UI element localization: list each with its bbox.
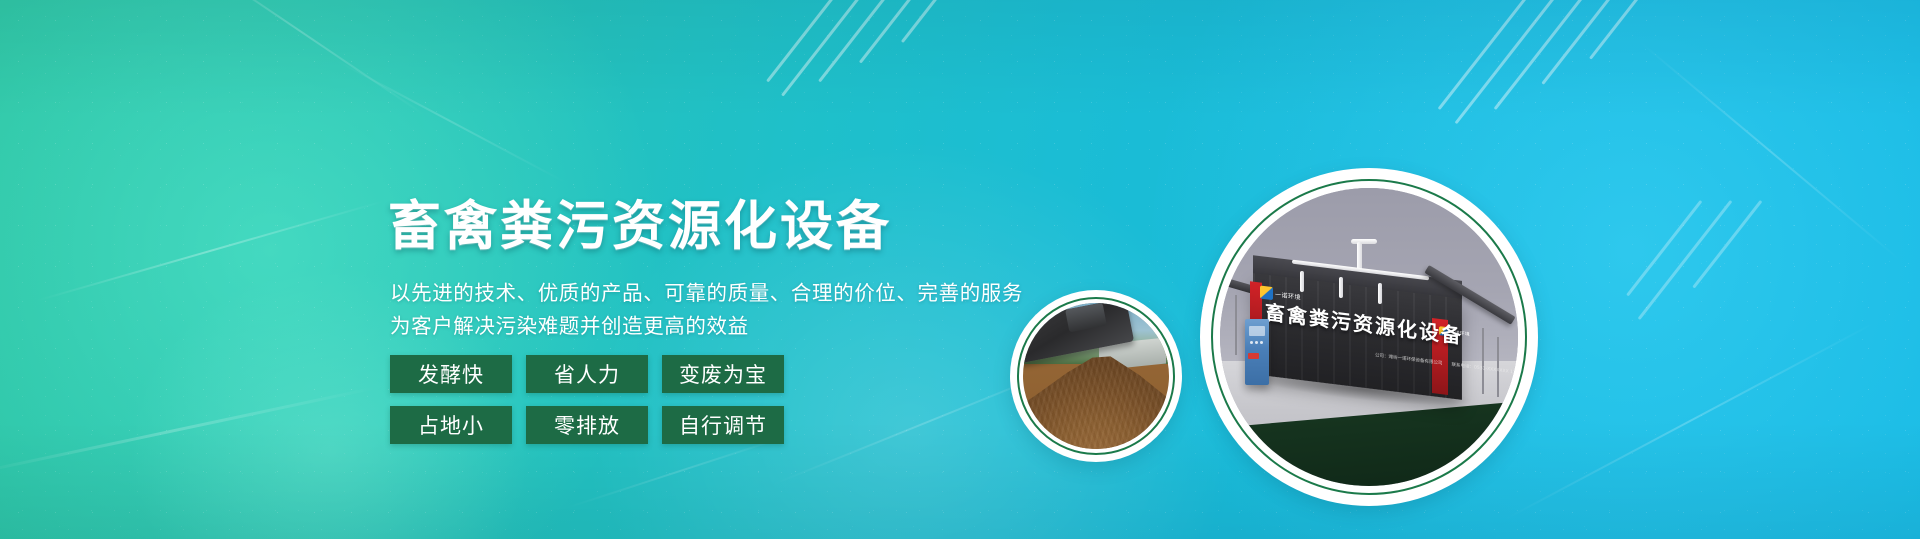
render-control-cabinet xyxy=(1245,319,1269,385)
banner-content: 畜禽粪污资源化设备 以先进的技术、优质的产品、可靠的质量、合理的价位、完善的服务… xyxy=(0,0,1920,539)
cabinet-indicator-dot xyxy=(1250,341,1253,344)
cabinet-indicator-dot xyxy=(1255,341,1258,344)
compost-pile-photo-circle[interactable] xyxy=(1010,290,1182,462)
cabinet-indicator-dot xyxy=(1260,341,1263,344)
cabinet-display-panel xyxy=(1249,326,1265,336)
render-pipe-vertical xyxy=(1300,271,1304,292)
page-title: 畜禽粪污资源化设备 xyxy=(388,200,892,253)
hero-banner: 畜禽粪污资源化设备 以先进的技术、优质的产品、可靠的质量、合理的价位、完善的服务… xyxy=(0,0,1920,539)
render-vent-cap xyxy=(1351,239,1377,244)
compost-pile-photo xyxy=(1023,303,1169,449)
feature-tag-small-footprint[interactable]: 占地小 xyxy=(390,406,512,444)
render-support-leg xyxy=(1482,328,1484,394)
cabinet-red-button xyxy=(1248,353,1259,359)
render-pipe-vertical xyxy=(1339,277,1343,298)
render-support-leg xyxy=(1497,337,1499,397)
render-support-leg xyxy=(1235,295,1237,355)
feature-tag-waste-to-treasure[interactable]: 变废为宝 xyxy=(662,355,784,393)
subtitle-line-1: 以先进的技术、优质的产品、可靠的质量、合理的价位、完善的服务 xyxy=(390,283,1023,304)
equipment-render-image: 一诺环境 一诺环境 畜禽粪污资源化设备 公司：潍坊一诺环保设备有限公司 联系电话… xyxy=(1220,188,1518,486)
equipment-render-photo: 一诺环境 一诺环境 畜禽粪污资源化设备 公司：潍坊一诺环保设备有限公司 联系电话… xyxy=(1220,188,1518,486)
feature-tag-grid: 发酵快 省人力 变废为宝 占地小 零排放 自行调节 xyxy=(390,355,784,444)
feature-tag-labor-saving[interactable]: 省人力 xyxy=(526,355,648,393)
feature-tag-fast-fermentation[interactable]: 发酵快 xyxy=(390,355,512,393)
render-pipe-vertical xyxy=(1378,283,1382,304)
compost-pile-image xyxy=(1023,303,1169,449)
feature-tag-self-adjusting[interactable]: 自行调节 xyxy=(662,406,784,444)
feature-tag-zero-emission[interactable]: 零排放 xyxy=(526,406,648,444)
subtitle-line-2: 为客户解决污染难题并创造更高的效益 xyxy=(390,316,749,337)
equipment-render-circle[interactable]: 一诺环境 一诺环境 畜禽粪污资源化设备 公司：潍坊一诺环保设备有限公司 联系电话… xyxy=(1200,168,1538,506)
